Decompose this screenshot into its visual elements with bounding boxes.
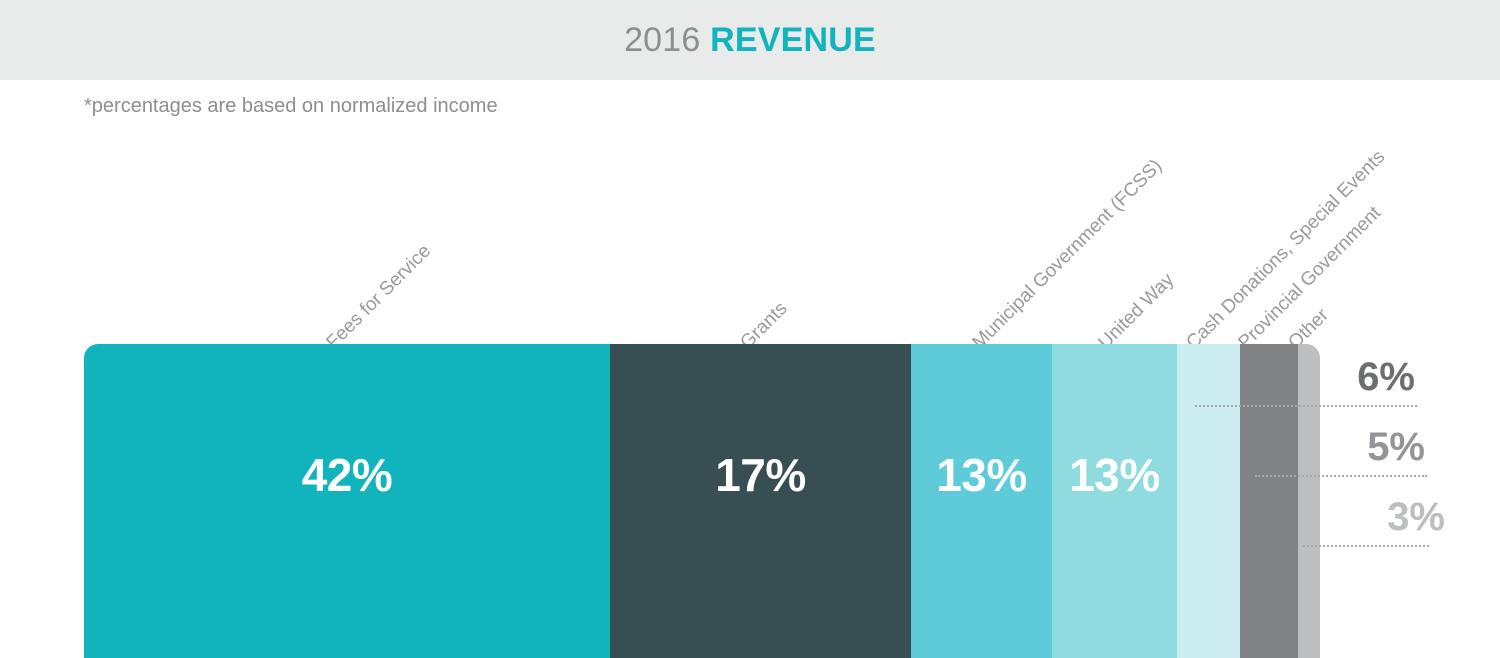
category-label-cash-donations: Cash Donations, Special Events <box>1182 147 1389 354</box>
leader-line-cash-donations <box>1195 405 1417 407</box>
callout-value-cash-donations: 6% <box>1270 355 1415 400</box>
category-label-united-way: United Way <box>1094 270 1178 354</box>
bar-segment-cash-donations[interactable] <box>1177 344 1240 658</box>
bar-segment-grants[interactable]: 17% <box>610 344 911 658</box>
bar-segment-united-way[interactable]: 13% <box>1052 344 1177 658</box>
leader-line-other <box>1303 545 1429 547</box>
bar-segment-fees-for-service[interactable]: 42% <box>84 344 610 658</box>
bar-segment-value-municipal-government: 13% <box>936 448 1027 502</box>
bar-segment-value-grants: 17% <box>715 448 806 502</box>
revenue-stacked-bar-chart: Fees for Service Grants Municipal Govern… <box>0 0 1500 658</box>
bar-segment-value-fees-for-service: 42% <box>302 448 393 502</box>
category-label-fees-for-service: Fees for Service <box>322 241 435 354</box>
callout-value-other: 3% <box>1300 495 1445 540</box>
bar-segment-municipal-government[interactable]: 13% <box>911 344 1052 658</box>
callout-value-provincial-government: 5% <box>1280 425 1425 470</box>
stacked-bar: 42% 17% 13% 13% <box>84 344 1320 658</box>
leader-line-provincial-government <box>1255 475 1427 477</box>
bar-segment-value-united-way: 13% <box>1069 448 1160 502</box>
